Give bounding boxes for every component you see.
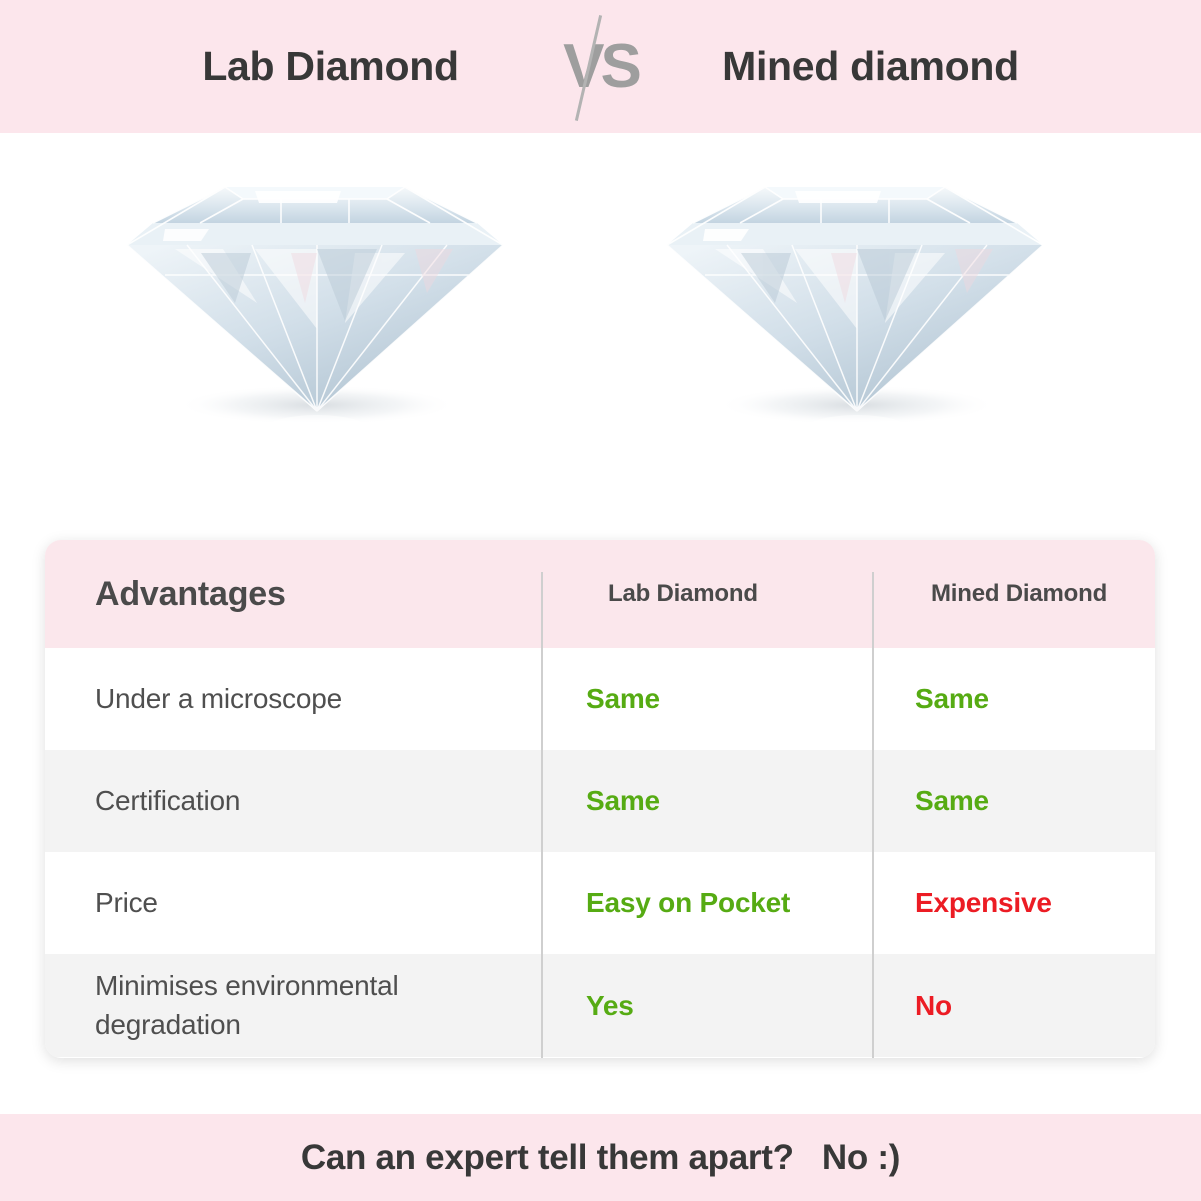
footer-band: Can an expert tell them apart? No :) (0, 1114, 1201, 1201)
comparison-table: Advantages Lab Diamond Mined Diamond Und… (45, 540, 1155, 1058)
row-mined-value-cell: Same (872, 785, 1155, 817)
mined-diamond-image (645, 153, 1065, 453)
vs-label: VS (563, 36, 638, 98)
row-label-cell: Minimises environmental degradation (45, 967, 541, 1044)
table-row: Certification Same Same (45, 750, 1155, 852)
row-mined-value-cell: No (872, 990, 1155, 1022)
column-divider-2 (872, 572, 874, 1058)
lab-diamond-image (105, 153, 525, 453)
column-divider-1 (541, 572, 543, 1058)
row-lab-value-cell: Same (541, 683, 872, 715)
table-header-row: Advantages Lab Diamond Mined Diamond (45, 540, 1155, 648)
header-cell-advantages: Advantages (45, 575, 541, 614)
header-cell-lab-diamond: Lab Diamond (541, 580, 872, 608)
row-lab-value-cell: Same (541, 785, 872, 817)
diamond-illustration-icon (645, 153, 1065, 453)
table-row: Under a microscope Same Same (45, 648, 1155, 750)
row-label-cell: Price (45, 884, 541, 923)
vs-badge: VS (546, 0, 656, 133)
header-left-title: Lab Diamond (116, 43, 546, 90)
diamond-illustration-icon (105, 153, 525, 453)
diamond-image-area (0, 133, 1201, 533)
header-band: Lab Diamond VS Mined diamond (0, 0, 1201, 133)
header-right-title: Mined diamond (656, 43, 1086, 90)
header-cell-mined-diamond: Mined Diamond (872, 580, 1155, 608)
row-mined-value-cell: Same (872, 683, 1155, 715)
row-label-cell: Certification (45, 782, 541, 821)
row-lab-value-cell: Easy on Pocket (541, 887, 872, 919)
footer-question: Can an expert tell them apart? No :) (301, 1138, 900, 1178)
row-mined-value-cell: Expensive (872, 887, 1155, 919)
table-row: Minimises environmental degradation Yes … (45, 954, 1155, 1057)
row-label-cell: Under a microscope (45, 680, 541, 719)
table-row: Price Easy on Pocket Expensive (45, 852, 1155, 954)
row-lab-value-cell: Yes (541, 990, 872, 1022)
